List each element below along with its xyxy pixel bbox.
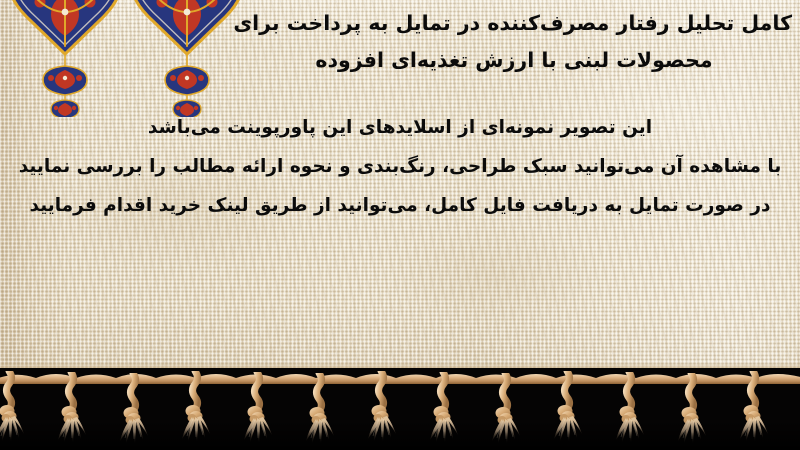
body-line-1: این تصویر نمونه‌ای از اسلایدهای این پاور… [14,108,786,147]
carpet-medallion-ornament-2 [128,0,246,117]
title-line-2: محصولات لبنی با ارزش تغذیه‌ای افزوده [236,42,792,79]
body-line-2: با مشاهده آن می‌توانید سبک طراحی، رنگ‌بن… [14,147,786,186]
presentation-slide: کامل تحلیل رفتار مصرف‌کننده در تمایل به … [0,0,800,450]
carpet-fringe-band [0,368,800,450]
fringe-tassel [552,371,582,445]
slide-body: این تصویر نمونه‌ای از اسلایدهای این پاور… [14,108,786,225]
fringe-tassel [738,371,768,445]
fringe-tassel [366,371,396,445]
title-line-1: کامل تحلیل رفتار مصرف‌کننده در تمایل به … [236,5,792,42]
body-line-3: در صورت تمایل به دریافت فایل کامل، می‌تو… [14,186,786,225]
fringe-tassel [428,372,458,446]
fringe-tassel [676,373,706,447]
fringe-tassel [614,372,644,446]
slide-title: کامل تحلیل رفتار مصرف‌کننده در تمایل به … [236,5,792,79]
fringe-tassel [242,372,272,446]
fringe-tassel [56,372,86,446]
fringe-tassel [118,373,148,447]
carpet-medallion-ornament-1 [6,0,124,117]
fringe-tassel [0,371,24,445]
fringe-tassel [490,373,520,447]
fringe-tassel [304,373,334,447]
fringe-tassel [180,371,210,445]
